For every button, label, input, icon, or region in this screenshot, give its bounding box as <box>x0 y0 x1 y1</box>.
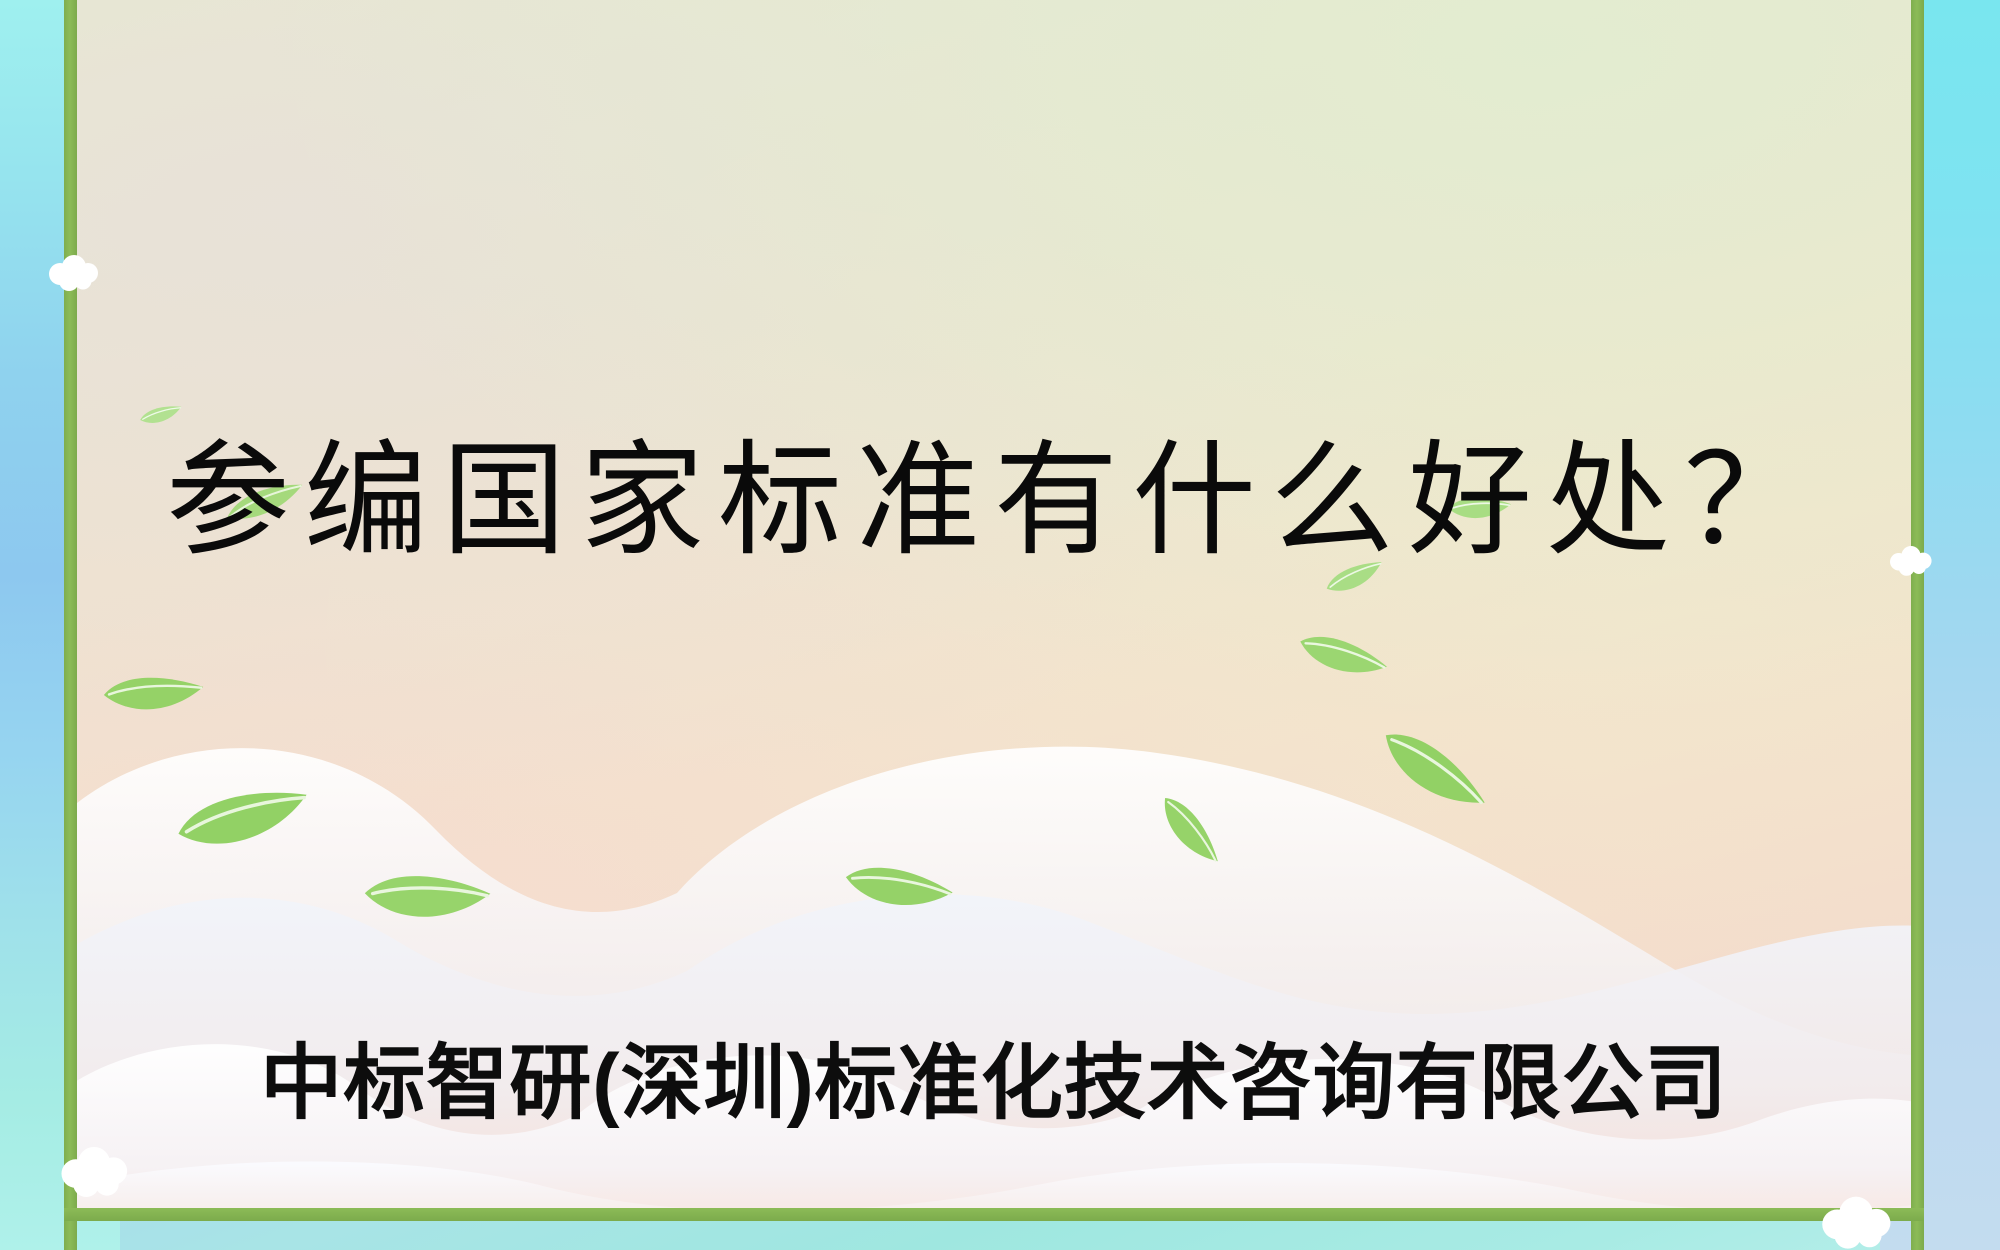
poster-canvas: 参编国家标准有什么好处？ 中标智研(深圳)标准化技术咨询有限公司 <box>0 0 2000 1250</box>
cloud-puff-icon <box>1883 542 1939 578</box>
frame-rail-right <box>1911 0 1924 1250</box>
poster-card: 参编国家标准有什么好处？ 中标智研(深圳)标准化技术咨询有限公司 <box>77 0 1911 1221</box>
cloud-puff-icon <box>50 1145 138 1197</box>
leaf-icon <box>173 785 313 856</box>
frame-rail-bottom <box>64 1208 1924 1221</box>
company-name: 中标智研(深圳)标准化技术咨询有限公司 <box>77 1039 1911 1129</box>
frame-rail-left <box>64 0 77 1250</box>
page-title: 参编国家标准有什么好处？ <box>77 435 1911 569</box>
cloud-puff-icon <box>1810 1196 1902 1250</box>
cloud-puff-icon <box>42 252 106 292</box>
leaf-icon <box>138 403 184 429</box>
